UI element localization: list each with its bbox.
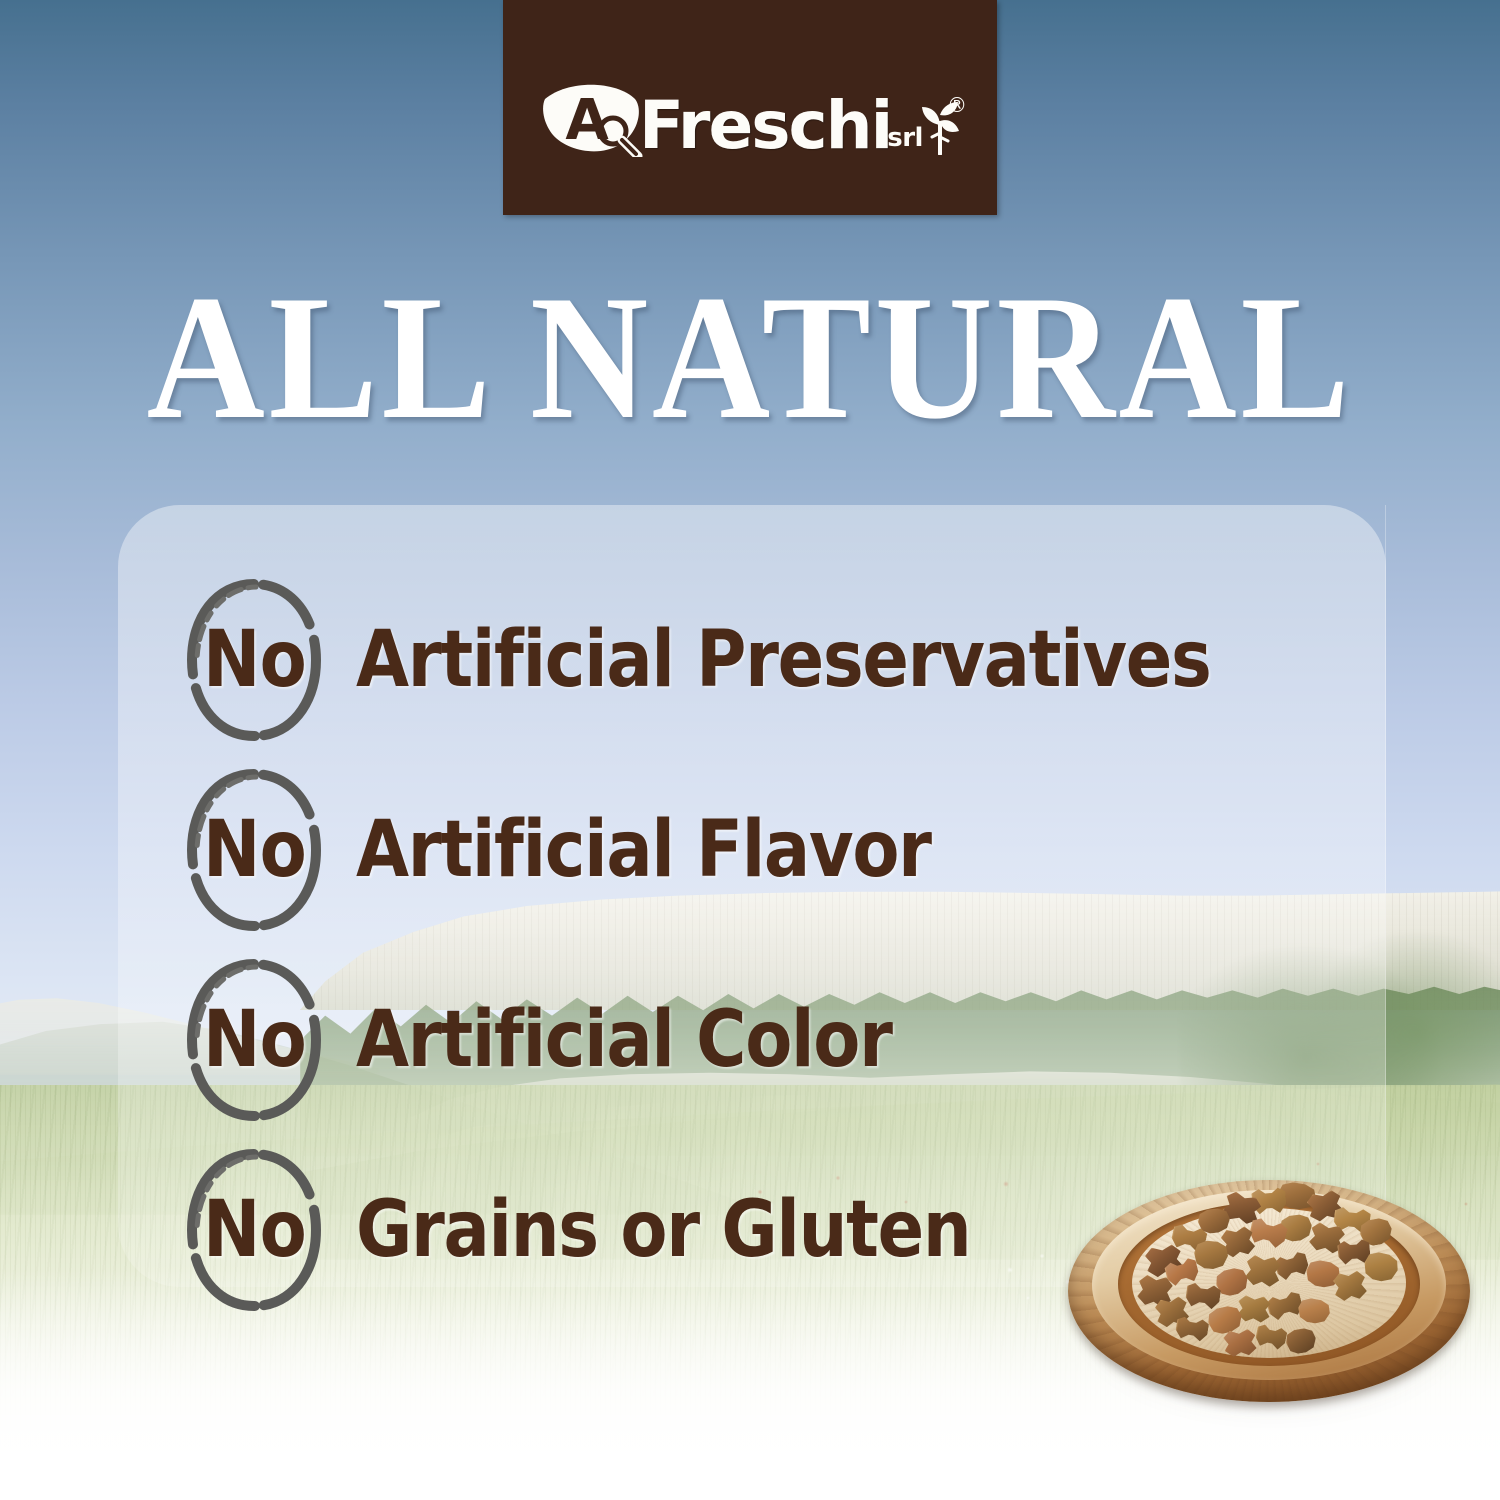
- brand-legal-suffix: srl: [887, 123, 923, 153]
- claim-item-color: No Artificial Color: [178, 945, 1398, 1135]
- bone-treat-icon: [1223, 1328, 1258, 1357]
- promo-banner: A Freschi srl ®: [0, 0, 1500, 1500]
- claim-label: Artificial Color: [356, 995, 892, 1085]
- bone-treat-icon: [1237, 1295, 1271, 1323]
- claim-label: Grains or Gluten: [356, 1185, 970, 1275]
- claim-prefix: No: [203, 1185, 306, 1275]
- bone-treat-icon: [1254, 1321, 1289, 1353]
- hand-drawn-circle-icon: No: [178, 956, 330, 1124]
- brand-logo: A Freschi srl ®: [539, 77, 961, 157]
- page-title: ALL NATURAL: [60, 268, 1440, 446]
- bone-treat-icon: [1304, 1257, 1343, 1291]
- registered-trademark-icon: ®: [947, 93, 967, 117]
- bone-treat-icon: [1184, 1280, 1222, 1312]
- claim-prefix: No: [203, 995, 306, 1085]
- claim-item-preservatives: No Artificial Preservatives: [178, 565, 1398, 755]
- claim-prefix: No: [203, 615, 306, 705]
- hand-drawn-circle-icon: No: [178, 576, 330, 744]
- claim-label: Artificial Flavor: [356, 805, 931, 895]
- bone-treat-icon: [1284, 1326, 1318, 1356]
- claim-item-flavor: No Artificial Flavor: [178, 755, 1398, 945]
- hand-drawn-circle-icon: No: [178, 1146, 330, 1314]
- sprout-icon: ®: [919, 97, 961, 155]
- bone-treat-icon: [1265, 1288, 1305, 1324]
- claim-label: Artificial Preservatives: [356, 615, 1211, 705]
- brand-name: Freschi: [639, 96, 891, 157]
- claim-prefix: No: [203, 805, 306, 895]
- brand-logo-box: A Freschi srl ®: [503, 0, 997, 215]
- hand-drawn-circle-icon: No: [178, 766, 330, 934]
- leaf-magnifier-icon: A: [539, 77, 649, 157]
- product-image: [1062, 1166, 1482, 1421]
- treat-pile: [1128, 1172, 1418, 1362]
- bone-treat-icon: [1245, 1254, 1282, 1287]
- bone-treat-icon: [1296, 1295, 1332, 1326]
